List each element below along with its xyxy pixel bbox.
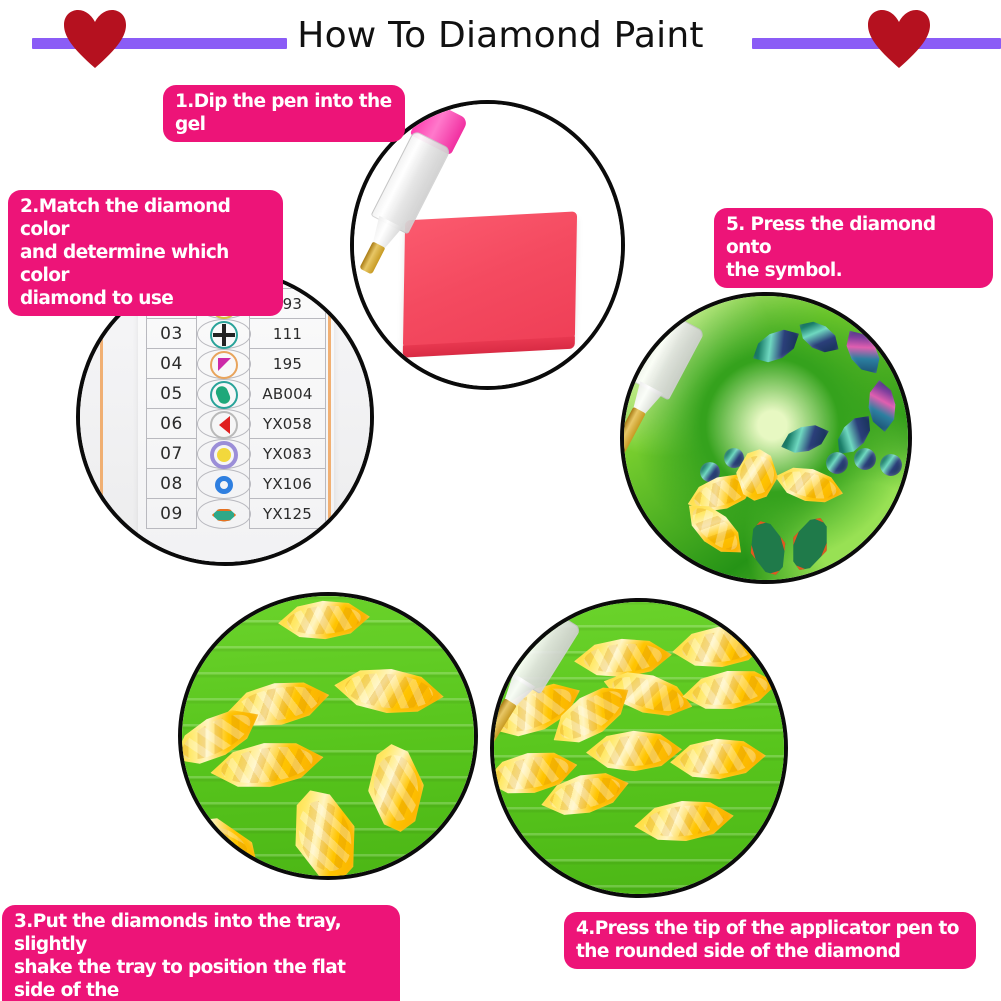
- table-row: 09 YX125: [147, 499, 326, 529]
- chart-symbol: [197, 379, 251, 409]
- step-3-label: 3.Put the diamonds into the tray, slight…: [2, 905, 400, 1001]
- gel-pad: [403, 211, 577, 348]
- step-5-label: 5. Press the diamond onto the symbol.: [714, 208, 993, 288]
- page-title: How To Diamond Paint: [0, 14, 1001, 58]
- table-row: 07 YX083: [147, 439, 326, 469]
- chart-symbol: [197, 469, 251, 499]
- table-row: 06 YX058: [147, 409, 326, 439]
- chart-code: YX125: [250, 499, 326, 529]
- header: How To Diamond Paint: [0, 0, 1001, 76]
- step-1-photo: [350, 100, 625, 390]
- chart-code: YX058: [250, 409, 326, 439]
- chart-code: YX083: [250, 439, 326, 469]
- chart-number: 04: [147, 349, 197, 379]
- chart-number: 03: [147, 319, 197, 349]
- step-5-photo: [620, 292, 912, 584]
- chart-number: 05: [147, 379, 197, 409]
- chart-symbol: [197, 439, 251, 469]
- table-row: 04 195: [147, 349, 326, 379]
- chart-symbol: [197, 499, 251, 529]
- chart-code: 111: [250, 319, 326, 349]
- chart-symbol: [197, 409, 251, 439]
- chart-number: 09: [147, 499, 197, 529]
- infographic-canvas: How To Diamond Paint 01: [0, 0, 1001, 1001]
- step-4-photo: [490, 598, 788, 898]
- chart-number: 06: [147, 409, 197, 439]
- chart-code: YX106: [250, 469, 326, 499]
- step-1-label: 1.Dip the pen into the gel: [163, 85, 405, 142]
- chart-symbol: [197, 349, 251, 379]
- chart-symbol: [197, 319, 251, 349]
- chart-code: 195: [250, 349, 326, 379]
- step-2-label: 2.Match the diamond color and determine …: [8, 190, 283, 316]
- table-row: 08 YX106: [147, 469, 326, 499]
- chart-number: 08: [147, 469, 197, 499]
- step-4-label: 4.Press the tip of the applicator pen to…: [564, 912, 976, 969]
- table-row: 03 111: [147, 319, 326, 349]
- table-row: 05 AB004: [147, 379, 326, 409]
- chart-number: 07: [147, 439, 197, 469]
- step-3-photo: [178, 592, 478, 880]
- chart-code: AB004: [250, 379, 326, 409]
